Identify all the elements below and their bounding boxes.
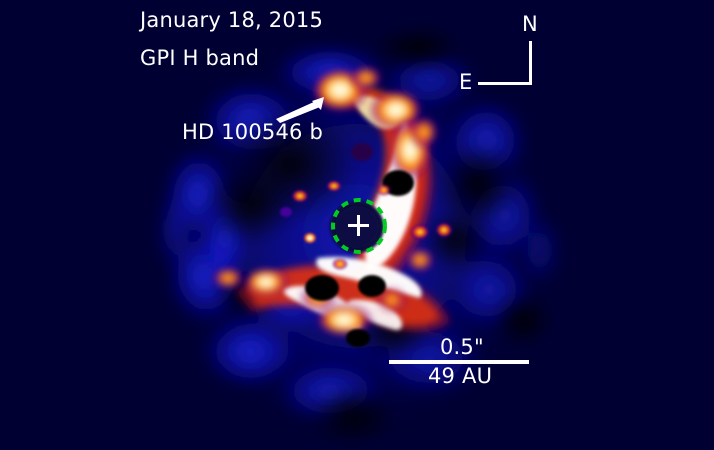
plus-crosshair-icon <box>348 215 369 236</box>
compass-east-label: E <box>459 70 472 94</box>
scalebar-au-label: 49 AU <box>428 364 492 388</box>
scalebar-arcsec-label: 0.5" <box>440 335 484 359</box>
compass-north-axis-icon <box>529 41 532 85</box>
observation-date-label: January 18, 2015 <box>140 8 323 32</box>
compass-north-label: N <box>522 12 538 36</box>
compass-east-axis-icon <box>478 82 532 85</box>
planet-pointer-arrow-icon <box>268 90 338 130</box>
coronagraphic-figure: January 18, 2015 GPI H band HD 100546 b … <box>0 0 714 450</box>
instrument-band-label: GPI H band <box>140 46 259 70</box>
